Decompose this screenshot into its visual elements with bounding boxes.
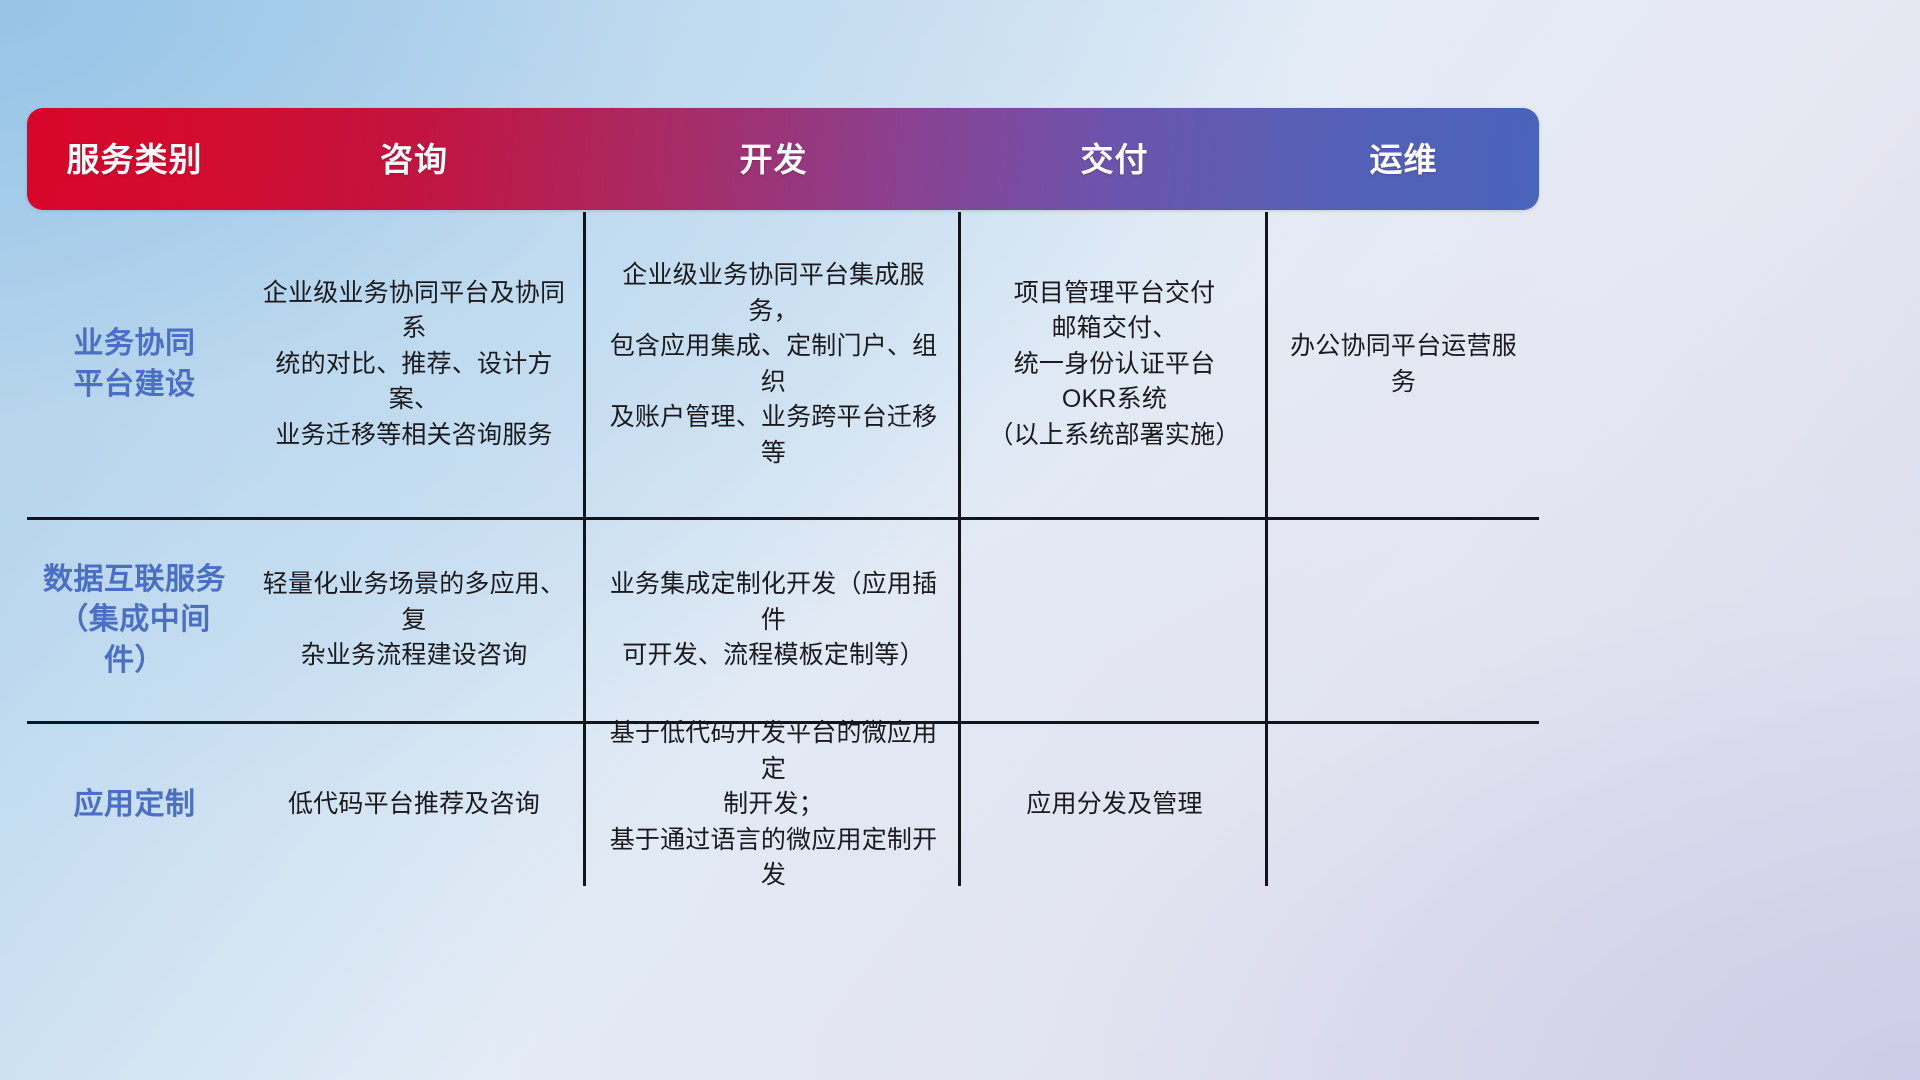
cell-text: 项目管理平台交付 邮箱交付、 统一身份认证平台 OKR系统 （以上系统部署实施） [988,276,1240,454]
column-header-label: 交付 [1081,141,1149,178]
column-header-operations: 运维 [1268,143,1539,176]
column-header-label: 运维 [1370,141,1438,178]
column-header-delivery: 交付 [961,143,1268,176]
cell-operations [1268,520,1539,721]
cell-text: 应用分发及管理 [1026,787,1202,823]
table-row: 数据互联服务 （集成中间件） 轻量化业务场景的多应用、复 杂业务流程建设咨询 业… [27,520,1539,724]
cell-delivery: 应用分发及管理 [961,724,1268,886]
row-category-cell: 应用定制 [27,724,242,886]
cell-text: 企业级业务协同平台及协同系 统的对比、推荐、设计方案、 业务迁移等相关咨询服务 [254,276,574,454]
cell-operations [1268,724,1539,886]
column-header-label: 服务类别 [67,141,203,178]
cell-development: 企业级业务协同平台集成服务， 包含应用集成、定制门户、组织 及账户管理、业务跨平… [586,212,961,517]
row-category-label: 数据互联服务 （集成中间件） [39,560,230,682]
column-header-consulting: 咨询 [242,143,586,176]
column-header-development: 开发 [586,143,961,176]
row-category-label: 业务协同 平台建设 [74,324,196,405]
row-category-cell: 数据互联服务 （集成中间件） [27,520,242,721]
column-header-label: 咨询 [380,141,448,178]
column-header-service-category: 服务类别 [27,143,242,176]
table-row: 应用定制 低代码平台推荐及咨询 基于低代码开发平台的微应用定 制开发； 基于通过… [27,724,1539,886]
slide-canvas: 服务类别 咨询 开发 交付 运维 业务协同 平台建设 [0,0,1920,1080]
cell-text: 企业级业务协同平台集成服务， 包含应用集成、定制门户、组织 及账户管理、业务跨平… [598,258,949,471]
cell-consulting: 企业级业务协同平台及协同系 统的对比、推荐、设计方案、 业务迁移等相关咨询服务 [242,212,586,517]
cell-delivery [961,520,1268,721]
cell-consulting: 低代码平台推荐及咨询 [242,724,586,886]
cell-development: 业务集成定制化开发（应用插件 可开发、流程模板定制等） [586,520,961,721]
cell-development: 基于低代码开发平台的微应用定 制开发； 基于通过语言的微应用定制开发 [586,724,961,886]
cell-text: 基于低代码开发平台的微应用定 制开发； 基于通过语言的微应用定制开发 [598,716,949,894]
cell-operations: 办公协同平台运营服务 [1268,212,1539,517]
row-category-cell: 业务协同 平台建设 [27,212,242,517]
column-header-label: 开发 [740,141,808,178]
row-category-label: 应用定制 [74,785,196,826]
cell-text: 轻量化业务场景的多应用、复 杂业务流程建设咨询 [254,567,574,674]
service-matrix-table: 服务类别 咨询 开发 交付 运维 业务协同 平台建设 [27,108,1539,778]
cell-text: 低代码平台推荐及咨询 [288,787,540,823]
table-header-row: 服务类别 咨询 开发 交付 运维 [27,108,1539,210]
cell-consulting: 轻量化业务场景的多应用、复 杂业务流程建设咨询 [242,520,586,721]
cell-text: 业务集成定制化开发（应用插件 可开发、流程模板定制等） [598,567,949,674]
cell-delivery: 项目管理平台交付 邮箱交付、 统一身份认证平台 OKR系统 （以上系统部署实施） [961,212,1268,517]
table-body: 业务协同 平台建设 企业级业务协同平台及协同系 统的对比、推荐、设计方案、 业务… [27,210,1539,886]
cell-text: 办公协同平台运营服务 [1280,329,1527,400]
table-row: 业务协同 平台建设 企业级业务协同平台及协同系 统的对比、推荐、设计方案、 业务… [27,210,1539,520]
